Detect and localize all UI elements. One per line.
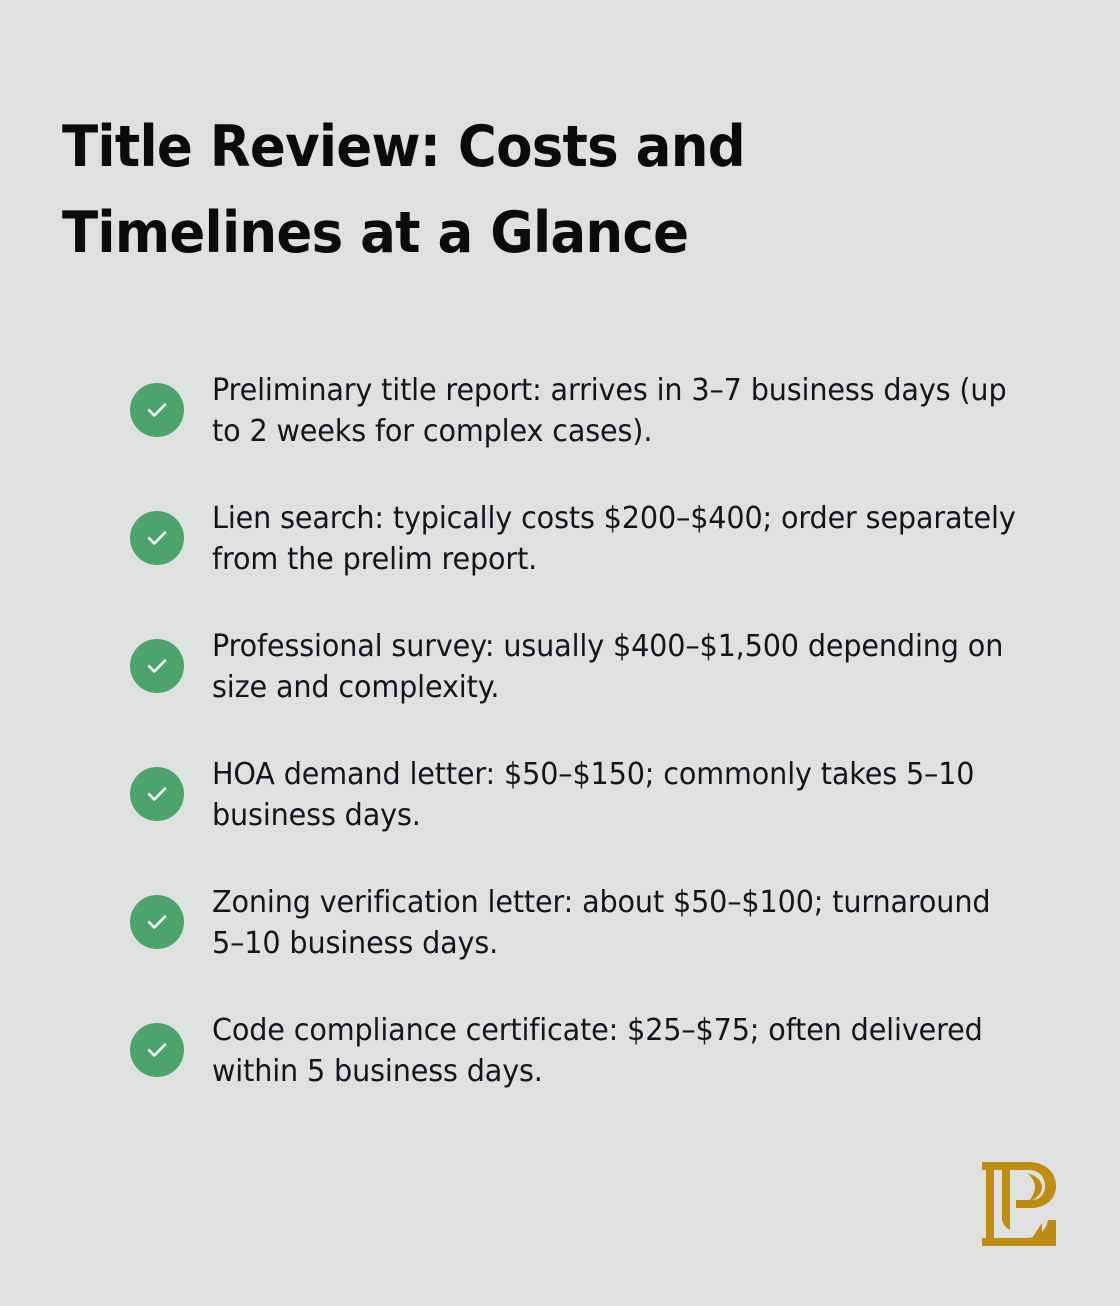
check-circle-icon: [130, 639, 184, 693]
brand-logo: [980, 1160, 1058, 1248]
list-item-text: Professional survey: usually $400–$1,500…: [212, 626, 1022, 708]
check-circle-icon: [130, 383, 184, 437]
checklist: Preliminary title report: arrives in 3–7…: [130, 370, 1060, 1104]
list-item: Code compliance certificate: $25–$75; of…: [130, 1010, 1060, 1104]
list-item: Preliminary title report: arrives in 3–7…: [130, 370, 1060, 464]
list-item: HOA demand letter: $50–$150; commonly ta…: [130, 754, 1060, 848]
check-circle-icon: [130, 511, 184, 565]
list-item: Lien search: typically costs $200–$400; …: [130, 498, 1060, 592]
check-circle-icon: [130, 1023, 184, 1077]
list-item: Zoning verification letter: about $50–$1…: [130, 882, 1060, 976]
list-item-text: HOA demand letter: $50–$150; commonly ta…: [212, 754, 1022, 836]
list-item-text: Code compliance certificate: $25–$75; of…: [212, 1010, 1022, 1092]
list-item-text: Preliminary title report: arrives in 3–7…: [212, 370, 1022, 452]
check-circle-icon: [130, 895, 184, 949]
infographic-canvas: Title Review: Costs and Timelines at a G…: [0, 0, 1120, 1306]
check-circle-icon: [130, 767, 184, 821]
page-title: Title Review: Costs and Timelines at a G…: [62, 104, 834, 276]
list-item: Professional survey: usually $400–$1,500…: [130, 626, 1060, 720]
list-item-text: Zoning verification letter: about $50–$1…: [212, 882, 1022, 964]
list-item-text: Lien search: typically costs $200–$400; …: [212, 498, 1022, 580]
